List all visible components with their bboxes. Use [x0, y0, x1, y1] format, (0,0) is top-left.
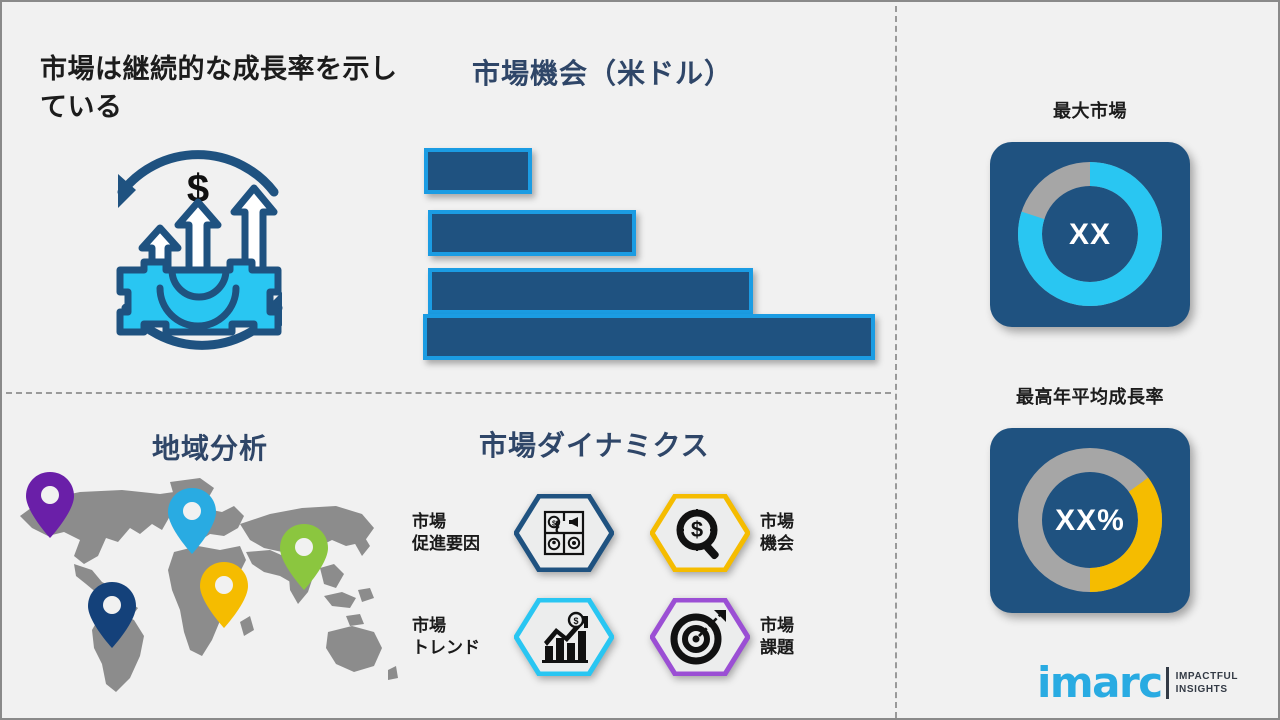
vertical-divider: [895, 6, 897, 718]
donut-card-highest-cagr: XX%: [990, 428, 1190, 613]
dynamics-label-trends: 市場 トレンド: [412, 615, 504, 659]
opportunity-bar-chart: [420, 148, 880, 348]
target-icon: [650, 598, 750, 676]
bar-row-2: [428, 210, 636, 256]
map-pin-middle-east: [200, 562, 248, 628]
map-pin-east-asia: [280, 524, 328, 590]
market-opportunity-title: 市場機会（米ドル）: [472, 52, 733, 92]
imarc-logo: imarc IMPACTFUL INSIGHTS: [1037, 662, 1238, 704]
donut-caption-highest-cagr: 最高年平均成長率: [960, 383, 1220, 409]
svg-text:$: $: [573, 616, 578, 626]
donut-chart-highest-cagr: [990, 428, 1190, 613]
bar-row-4: [423, 314, 875, 360]
donut-chart-largest-market: [990, 142, 1190, 327]
horizontal-divider: [6, 392, 891, 394]
donut-caption-largest-market: 最大市場: [960, 97, 1220, 123]
dynamics-label-opportunities: 市場 機会: [760, 511, 794, 555]
growth-chart-icon: $: [514, 598, 614, 676]
logo-tagline: IMPACTFUL INSIGHTS: [1176, 670, 1238, 697]
world-map: [2, 464, 402, 704]
dynamics-item-challenges[interactable]: 市場 課題: [650, 598, 794, 676]
logo-wordmark: imarc: [1037, 662, 1162, 704]
svg-text:$: $: [691, 517, 703, 542]
dynamics-label-drivers: 市場 促進要因: [412, 511, 504, 555]
logo-divider: [1166, 667, 1169, 699]
dynamics-item-trends[interactable]: 市場 トレンド $: [412, 598, 614, 676]
headline-title: 市場は継続的な成長率を示している: [40, 50, 400, 127]
slide-canvas: 市場は継続的な成長率を示している $ 市場機会（米ドル）: [0, 0, 1280, 720]
market-dynamics-title: 市場ダイナミクス: [479, 424, 710, 464]
regional-analysis-title: 地域分析: [152, 427, 268, 467]
growth-cycle-icon: $: [74, 130, 322, 370]
svg-text:$: $: [552, 521, 556, 528]
dollar-search-icon: $: [650, 494, 750, 572]
dynamics-item-drivers[interactable]: 市場 促進要因 $: [412, 494, 614, 572]
map-pin-europe: [168, 488, 216, 554]
dynamics-item-opportunities[interactable]: $ 市場 機会: [650, 494, 794, 572]
bar-row-1: [424, 148, 532, 194]
dynamics-label-challenges: 市場 課題: [760, 615, 794, 659]
map-pin-south-america: [88, 582, 136, 648]
map-pin-north-america: [26, 472, 74, 538]
puzzle-icon: $: [514, 494, 614, 572]
donut-card-largest-market: XX: [990, 142, 1190, 327]
bar-row-3: [428, 268, 753, 314]
